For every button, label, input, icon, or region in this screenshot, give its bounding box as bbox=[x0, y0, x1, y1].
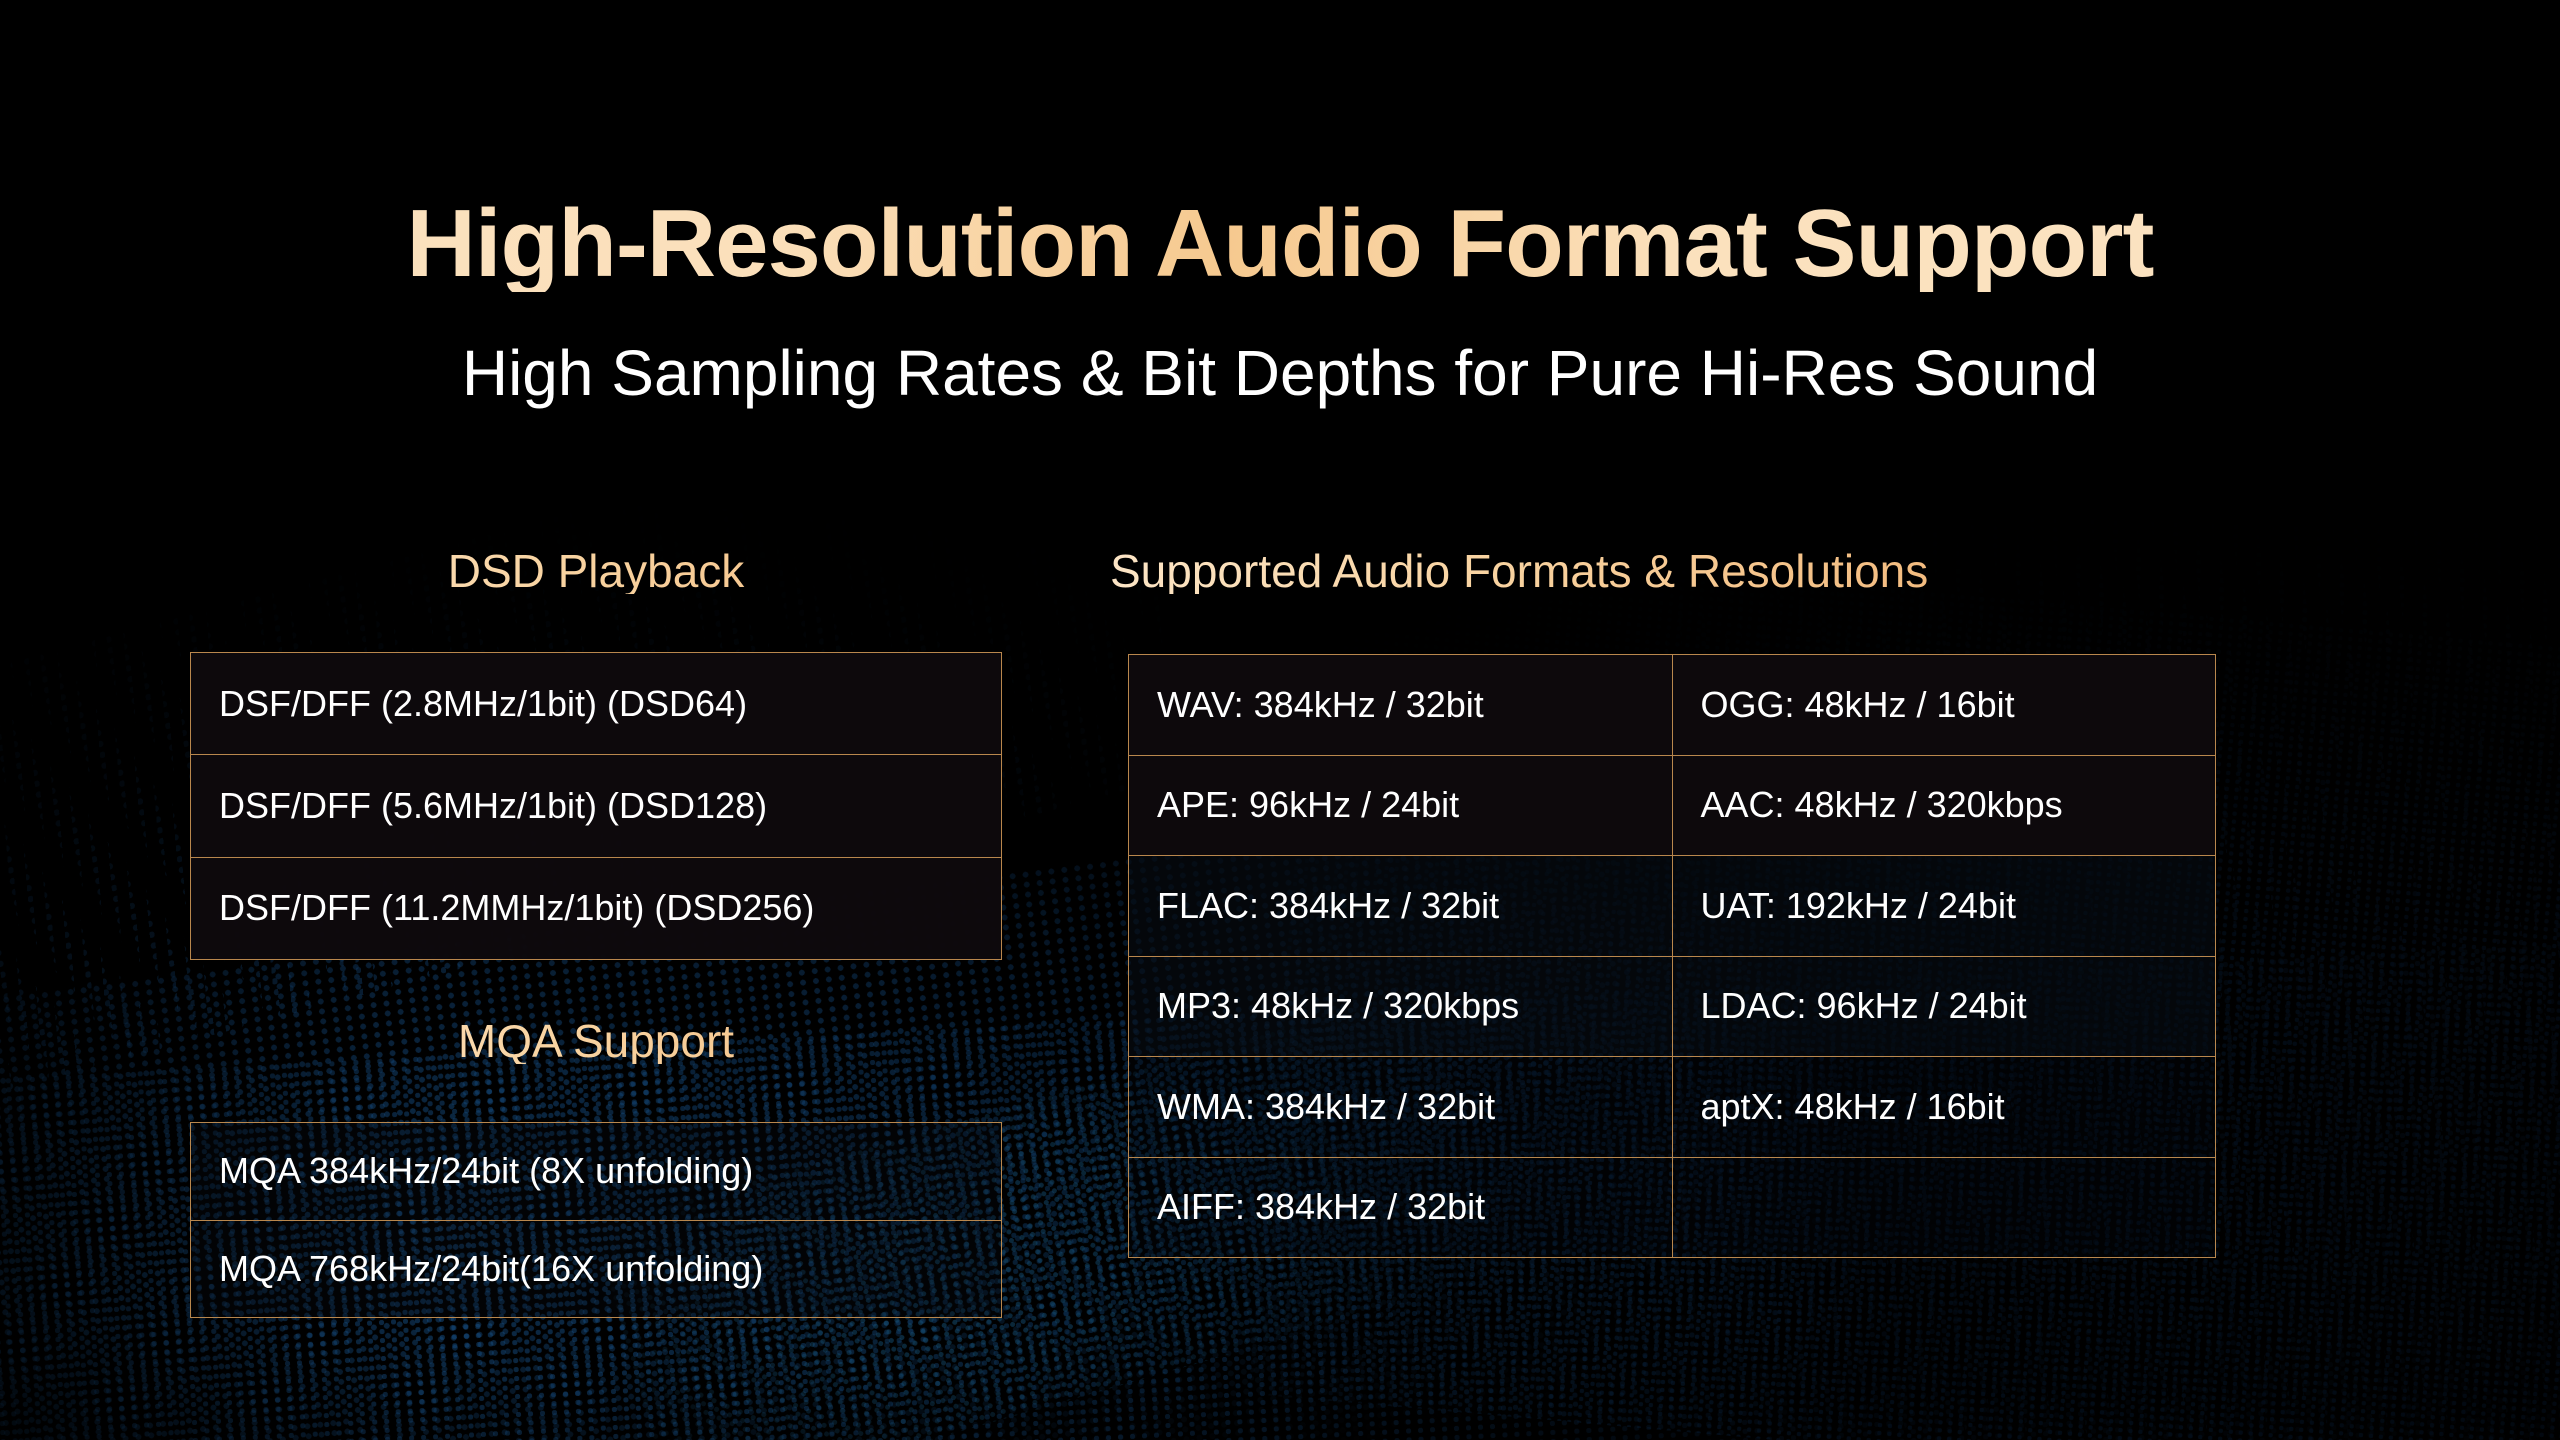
supported-formats-table: WAV: 384kHz / 32bit OGG: 48kHz / 16bit A… bbox=[1128, 654, 2216, 1258]
table-row[interactable]: MP3: 48kHz / 320kbps LDAC: 96kHz / 24bit bbox=[1129, 956, 2215, 1057]
format-cell-right bbox=[1672, 1158, 2216, 1258]
format-cell-left: FLAC: 384kHz / 32bit bbox=[1129, 856, 1672, 956]
slide-content: High-Resolution Audio Format Support Hig… bbox=[0, 0, 2560, 1440]
table-row[interactable]: APE: 96kHz / 24bit AAC: 48kHz / 320kbps bbox=[1129, 755, 2215, 856]
format-cell-left: AIFF: 384kHz / 32bit bbox=[1129, 1158, 1672, 1258]
mqa-support-table: MQA 384kHz/24bit (8X unfolding) MQA 768k… bbox=[190, 1122, 1002, 1318]
format-cell-left: APE: 96kHz / 24bit bbox=[1129, 756, 1672, 856]
table-row[interactable]: AIFF: 384kHz / 32bit bbox=[1129, 1157, 2215, 1258]
table-row[interactable]: WAV: 384kHz / 32bit OGG: 48kHz / 16bit bbox=[1129, 655, 2215, 755]
dsd-format-cell: DSF/DFF (5.6MHz/1bit) (DSD128) bbox=[191, 755, 1001, 856]
dsd-format-cell: DSF/DFF (2.8MHz/1bit) (DSD64) bbox=[191, 653, 1001, 754]
format-cell-left: WAV: 384kHz / 32bit bbox=[1129, 655, 1672, 755]
format-cell-right: aptX: 48kHz / 16bit bbox=[1672, 1057, 2216, 1157]
dsd-format-cell: DSF/DFF (11.2MMHz/1bit) (DSD256) bbox=[191, 858, 1001, 959]
table-row[interactable]: MQA 384kHz/24bit (8X unfolding) bbox=[191, 1123, 1001, 1220]
section-heading-dsd: DSD Playback bbox=[190, 548, 1002, 594]
format-cell-right: OGG: 48kHz / 16bit bbox=[1672, 655, 2216, 755]
table-row[interactable]: DSF/DFF (5.6MHz/1bit) (DSD128) bbox=[191, 754, 1001, 856]
page-subtitle: High Sampling Rates & Bit Depths for Pur… bbox=[0, 341, 2560, 405]
table-row[interactable]: MQA 768kHz/24bit(16X unfolding) bbox=[191, 1220, 1001, 1318]
mqa-format-cell: MQA 384kHz/24bit (8X unfolding) bbox=[191, 1123, 1001, 1220]
format-cell-right: AAC: 48kHz / 320kbps bbox=[1672, 756, 2216, 856]
format-cell-left: WMA: 384kHz / 32bit bbox=[1129, 1057, 1672, 1157]
format-cell-right: LDAC: 96kHz / 24bit bbox=[1672, 957, 2216, 1057]
mqa-format-cell: MQA 768kHz/24bit(16X unfolding) bbox=[191, 1221, 1001, 1318]
page-title: High-Resolution Audio Format Support bbox=[0, 196, 2560, 292]
table-row[interactable]: DSF/DFF (2.8MHz/1bit) (DSD64) bbox=[191, 653, 1001, 754]
format-cell-left: MP3: 48kHz / 320kbps bbox=[1129, 957, 1672, 1057]
section-heading-mqa: MQA Support bbox=[190, 1018, 1002, 1064]
table-row[interactable]: FLAC: 384kHz / 32bit UAT: 192kHz / 24bit bbox=[1129, 855, 2215, 956]
dsd-playback-table: DSF/DFF (2.8MHz/1bit) (DSD64) DSF/DFF (5… bbox=[190, 652, 1002, 960]
table-row[interactable]: DSF/DFF (11.2MMHz/1bit) (DSD256) bbox=[191, 857, 1001, 959]
format-cell-right: UAT: 192kHz / 24bit bbox=[1672, 856, 2216, 956]
table-row[interactable]: WMA: 384kHz / 32bit aptX: 48kHz / 16bit bbox=[1129, 1056, 2215, 1157]
section-heading-formats: Supported Audio Formats & Resolutions bbox=[1110, 548, 1928, 594]
